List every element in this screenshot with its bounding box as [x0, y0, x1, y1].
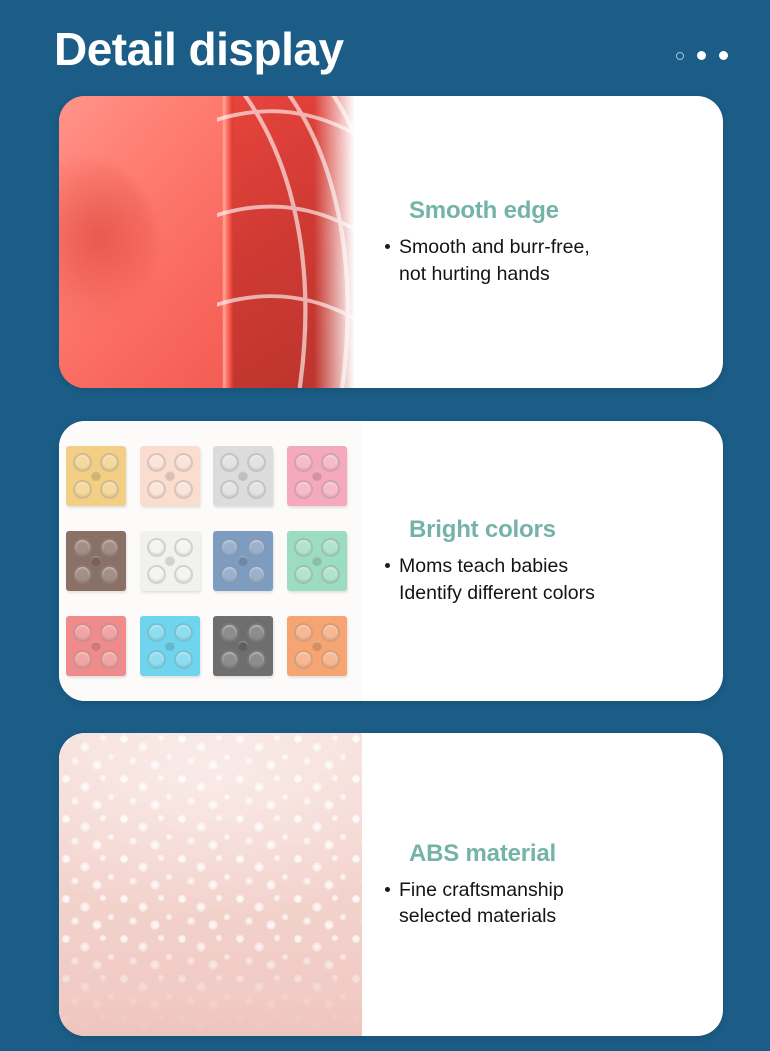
- block-stud-icon: [294, 650, 313, 669]
- card-media-color-blocks: [59, 421, 362, 701]
- block-orange: [287, 616, 347, 676]
- feature-card-abs-material[interactable]: ABS material Fine craftsmanship selected…: [59, 733, 723, 1036]
- block-stud-icon: [247, 650, 266, 669]
- block-stud-icon: [100, 623, 119, 642]
- block-stud-icon: [247, 623, 266, 642]
- card-bullet-text-smooth-edge: Smooth and burr-free, not hurting hands: [399, 234, 590, 287]
- card-bullet-bright-colors: Moms teach babies Identify different col…: [385, 553, 723, 606]
- block-stud-icon: [294, 538, 313, 557]
- page-title: Detail display: [54, 26, 344, 72]
- block-salmon: [66, 616, 126, 676]
- block-center-dot-icon: [91, 556, 101, 566]
- block-stud-icon: [247, 538, 266, 557]
- block-stud-icon: [174, 538, 193, 557]
- red-block-photo: [59, 96, 362, 388]
- block-yellow: [66, 446, 126, 506]
- block-stud-icon: [321, 650, 340, 669]
- card-body-bright-colors: Bright colors Moms teach babies Identify…: [362, 421, 723, 701]
- block-center-dot-icon: [312, 641, 322, 651]
- card-body-abs-material: ABS material Fine craftsmanship selected…: [362, 733, 723, 1036]
- block-stud-icon: [321, 453, 340, 472]
- block-stud-icon: [220, 453, 239, 472]
- block-center-dot-icon: [165, 471, 175, 481]
- block-cyan: [140, 616, 200, 676]
- block-stud-icon: [247, 480, 266, 499]
- card-bullet-abs-material: Fine craftsmanship selected materials: [385, 877, 723, 930]
- block-stud-icon: [321, 623, 340, 642]
- block-stud-icon: [100, 650, 119, 669]
- card-heading-abs-material: ABS material: [409, 840, 723, 868]
- card-body-smooth-edge: Smooth edge Smooth and burr-free, not hu…: [362, 96, 723, 388]
- block-stud-icon: [247, 453, 266, 472]
- block-stud-icon: [321, 565, 340, 584]
- bullet-point-icon: [385, 244, 390, 249]
- card-heading-smooth-edge: Smooth edge: [409, 197, 723, 225]
- block-center-dot-icon: [312, 556, 322, 566]
- color-blocks-grid: [59, 421, 362, 701]
- block-stud-icon: [73, 623, 92, 642]
- block-stud-icon: [100, 480, 119, 499]
- card-media-abs-pellets: [59, 733, 362, 1036]
- block-stud-icon: [147, 480, 166, 499]
- block-stud-icon: [73, 650, 92, 669]
- block-stud-icon: [294, 623, 313, 642]
- block-steel-blue: [213, 531, 273, 591]
- pagination-dot-3-icon[interactable]: [719, 51, 728, 60]
- card-media-red-block: [59, 96, 362, 388]
- block-stud-icon: [321, 480, 340, 499]
- block-stud-icon: [174, 480, 193, 499]
- block-center-dot-icon: [165, 641, 175, 651]
- block-center-dot-icon: [312, 471, 322, 481]
- block-stud-icon: [321, 538, 340, 557]
- block-stud-icon: [294, 480, 313, 499]
- block-stud-icon: [174, 650, 193, 669]
- block-stud-icon: [147, 538, 166, 557]
- block-center-dot-icon: [91, 471, 101, 481]
- block-stud-icon: [174, 623, 193, 642]
- block-brown: [66, 531, 126, 591]
- block-stud-icon: [147, 565, 166, 584]
- block-light-gray: [213, 446, 273, 506]
- block-center-dot-icon: [238, 471, 248, 481]
- block-stud-icon: [294, 453, 313, 472]
- pellets-pink-base: [59, 933, 362, 1036]
- block-stud-icon: [220, 650, 239, 669]
- card-heading-bright-colors: Bright colors: [409, 516, 723, 544]
- abs-pellets-photo: [59, 733, 362, 1036]
- pagination-dot-2-icon[interactable]: [697, 51, 706, 60]
- block-stud-icon: [100, 538, 119, 557]
- block-stud-icon: [73, 565, 92, 584]
- block-stud-icon: [100, 453, 119, 472]
- card-bullet-text-bright-colors: Moms teach babies Identify different col…: [399, 553, 595, 606]
- page-header: Detail display: [0, 0, 770, 95]
- block-white: [140, 531, 200, 591]
- block-dark-gray: [213, 616, 273, 676]
- block-stud-icon: [73, 453, 92, 472]
- media-edge-fade: [314, 96, 362, 388]
- pagination-dot-1-icon[interactable]: [676, 52, 684, 60]
- block-stud-icon: [147, 623, 166, 642]
- block-stud-icon: [174, 453, 193, 472]
- block-stud-icon: [220, 480, 239, 499]
- block-stud-icon: [147, 650, 166, 669]
- feature-card-bright-colors[interactable]: Bright colors Moms teach babies Identify…: [59, 421, 723, 701]
- block-stud-icon: [73, 538, 92, 557]
- block-blush: [140, 446, 200, 506]
- card-bullet-text-abs-material: Fine craftsmanship selected materials: [399, 877, 564, 930]
- bullet-point-icon: [385, 563, 390, 568]
- block-stud-icon: [174, 565, 193, 584]
- block-stud-icon: [220, 565, 239, 584]
- card-bullet-smooth-edge: Smooth and burr-free, not hurting hands: [385, 234, 723, 287]
- block-center-dot-icon: [238, 641, 248, 651]
- block-stud-icon: [220, 538, 239, 557]
- block-stud-icon: [220, 623, 239, 642]
- block-stud-icon: [294, 565, 313, 584]
- bullet-point-icon: [385, 887, 390, 892]
- block-stud-icon: [100, 565, 119, 584]
- block-stud-icon: [247, 565, 266, 584]
- block-stud-icon: [147, 453, 166, 472]
- block-stud-icon: [73, 480, 92, 499]
- block-center-dot-icon: [238, 556, 248, 566]
- block-mint: [287, 531, 347, 591]
- block-center-dot-icon: [91, 641, 101, 651]
- pagination-dots[interactable]: [676, 51, 728, 60]
- feature-card-smooth-edge[interactable]: Smooth edge Smooth and burr-free, not hu…: [59, 96, 723, 388]
- block-pink: [287, 446, 347, 506]
- block-center-dot-icon: [165, 556, 175, 566]
